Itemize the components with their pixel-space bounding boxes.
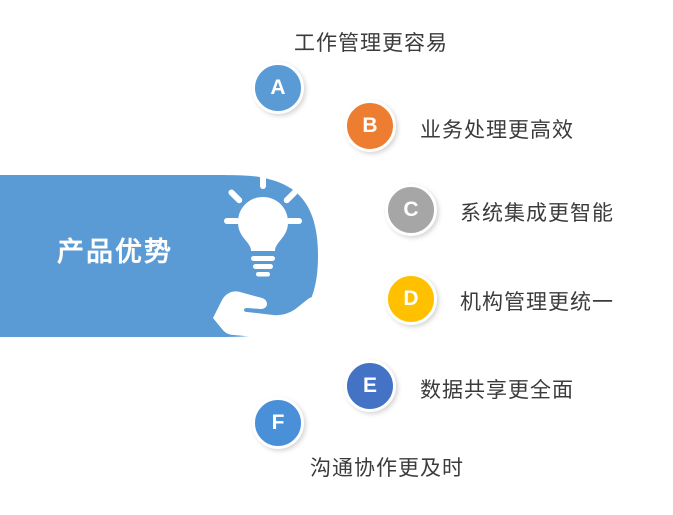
item-text-d: 机构管理更统一 <box>460 286 614 316</box>
node-letter-a: A <box>270 76 285 100</box>
item-text-c: 系统集成更智能 <box>460 197 614 227</box>
node-circle-a[interactable]: A <box>252 62 304 114</box>
node-letter-e: E <box>363 374 377 398</box>
item-text-a: 工作管理更容易 <box>294 27 448 57</box>
item-text-b: 业务处理更高效 <box>420 114 574 144</box>
item-text-e: 数据共享更全面 <box>420 374 574 404</box>
node-circle-d[interactable]: D <box>385 273 437 325</box>
node-circle-f[interactable]: F <box>252 397 304 449</box>
item-text-f: 沟通协作更及时 <box>310 452 464 482</box>
node-letter-f: F <box>272 411 285 435</box>
banner-label: 产品优势 <box>20 235 210 269</box>
diagram-canvas: 产品优势 工作管理更容易 A B 业务处理更高效 C 系统集成更智能 D 机构管… <box>0 0 673 515</box>
node-letter-d: D <box>403 287 418 311</box>
node-circle-e[interactable]: E <box>344 360 396 412</box>
node-circle-b[interactable]: B <box>344 100 396 152</box>
node-letter-c: C <box>403 198 418 222</box>
node-letter-b: B <box>362 114 377 138</box>
node-circle-c[interactable]: C <box>385 184 437 236</box>
